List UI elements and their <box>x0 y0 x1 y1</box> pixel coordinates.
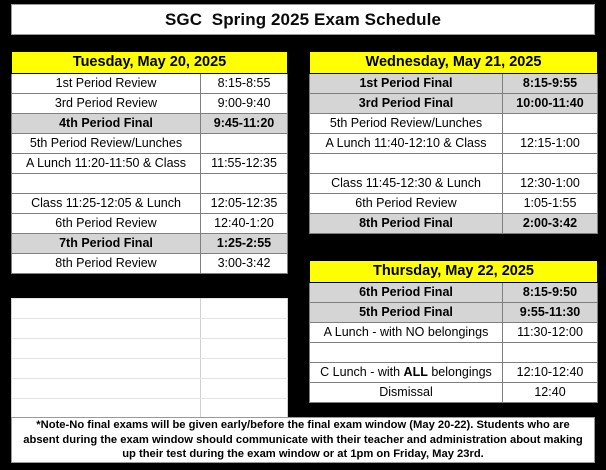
table-row: 5th Period Final9:55-11:30 <box>310 303 598 323</box>
exam-time-cell: 1:25-2:55 <box>201 234 288 254</box>
empty-cell <box>201 359 288 379</box>
exam-time-cell <box>201 174 288 194</box>
exam-label-cell: A Lunch 11:20-11:50 & Class <box>12 154 201 174</box>
exam-time-cell: 11:30-12:00 <box>503 323 598 343</box>
exam-label-cell: C Lunch - with ALL belongings <box>310 363 503 383</box>
exam-time-cell <box>503 114 598 134</box>
day-header-row-tuesday: Tuesday, May 20, 2025 <box>12 52 288 74</box>
empty-cell <box>201 339 288 359</box>
exam-label-cell: 8th Period Final <box>310 214 503 234</box>
exam-time-cell: 1:05-1:55 <box>503 194 598 214</box>
exam-label-cell: Class 11:45-12:30 & Lunch <box>310 174 503 194</box>
footer-note-text: *Note-No final exams will be given early… <box>20 418 586 462</box>
table-row: 1st Period Final8:15-9:55 <box>310 74 598 94</box>
empty-table-row <box>12 399 288 419</box>
exam-label-cell: Dismissal <box>310 383 503 403</box>
empty-cell <box>12 379 201 399</box>
exam-label-cell: 1st Period Final <box>310 74 503 94</box>
schedule-table-thursday: Thursday, May 22, 20256th Period Final8:… <box>309 260 598 403</box>
exam-time-cell: 3:00-3:42 <box>201 254 288 274</box>
exam-label-cell: 4th Period Final <box>12 114 201 134</box>
emphasis-word: ALL <box>404 365 428 379</box>
exam-time-cell: 9:45-11:20 <box>201 114 288 134</box>
empty-cell <box>201 319 288 339</box>
exam-label-cell: 6th Period Review <box>12 214 201 234</box>
exam-time-cell: 8:15-9:55 <box>503 74 598 94</box>
exam-label-cell: 5th Period Review/Lunches <box>310 114 503 134</box>
exam-time-cell: 11:55-12:35 <box>201 154 288 174</box>
exam-label-cell: Class 11:25-12:05 & Lunch <box>12 194 201 214</box>
exam-time-cell <box>503 343 598 363</box>
schedule-table-tuesday-blank-rows <box>11 298 288 419</box>
table-row: 8th Period Review3:00-3:42 <box>12 254 288 274</box>
table-row: 6th Period Review1:05-1:55 <box>310 194 598 214</box>
table-row: Dismissal12:40 <box>310 383 598 403</box>
table-row: A Lunch 11:40-12:10 & Class12:15-1:00 <box>310 134 598 154</box>
day-header-row-wednesday: Wednesday, May 21, 2025 <box>310 52 598 74</box>
table-row: 3rd Period Final10:00-11:40 <box>310 94 598 114</box>
day-header-wednesday: Wednesday, May 21, 2025 <box>310 52 598 74</box>
footer-note-box: *Note-No final exams will be given early… <box>11 417 595 463</box>
exam-label-cell: 5th Period Final <box>310 303 503 323</box>
exam-time-cell: 12:10-12:40 <box>503 363 598 383</box>
exam-time-cell <box>201 134 288 154</box>
table-row: 5th Period Review/Lunches <box>310 114 598 134</box>
exam-time-cell: 9:55-11:30 <box>503 303 598 323</box>
table-row <box>310 154 598 174</box>
table-row: 3rd Period Review9:00-9:40 <box>12 94 288 114</box>
exam-label-cell: 7th Period Final <box>12 234 201 254</box>
exam-time-cell: 12:05-12:35 <box>201 194 288 214</box>
empty-cell <box>12 339 201 359</box>
page-title: SGC Spring 2025 Exam Schedule <box>165 10 441 30</box>
exam-time-cell: 12:30-1:00 <box>503 174 598 194</box>
exam-time-cell: 8:15-9:50 <box>503 283 598 303</box>
empty-table-row <box>12 319 288 339</box>
exam-time-cell: 9:00-9:40 <box>201 94 288 114</box>
table-row: 6th Period Final8:15-9:50 <box>310 283 598 303</box>
table-row: Class 11:45-12:30 & Lunch12:30-1:00 <box>310 174 598 194</box>
empty-cell <box>201 399 288 419</box>
table-row: 7th Period Final1:25-2:55 <box>12 234 288 254</box>
table-row: Class 11:25-12:05 & Lunch12:05-12:35 <box>12 194 288 214</box>
day-header-row-thursday: Thursday, May 22, 2025 <box>310 261 598 283</box>
exam-label-cell: 6th Period Final <box>310 283 503 303</box>
exam-time-cell: 10:00-11:40 <box>503 94 598 114</box>
exam-time-cell: 12:40 <box>503 383 598 403</box>
table-row: 5th Period Review/Lunches <box>12 134 288 154</box>
empty-table-row <box>12 379 288 399</box>
exam-label-cell <box>310 343 503 363</box>
exam-label-cell: A Lunch - with NO belongings <box>310 323 503 343</box>
empty-table-row <box>12 299 288 319</box>
table-row <box>310 343 598 363</box>
empty-cell <box>12 359 201 379</box>
schedule-table-wednesday: Wednesday, May 21, 20251st Period Final8… <box>309 51 598 234</box>
exam-time-cell: 8:15-8:55 <box>201 74 288 94</box>
day-header-thursday: Thursday, May 22, 2025 <box>310 261 598 283</box>
table-row <box>12 174 288 194</box>
table-row: 1st Period Review8:15-8:55 <box>12 74 288 94</box>
exam-label-cell: 3rd Period Review <box>12 94 201 114</box>
exam-label-cell: 3rd Period Final <box>310 94 503 114</box>
empty-cell <box>12 299 201 319</box>
schedule-title-box: SGC Spring 2025 Exam Schedule <box>11 4 595 35</box>
empty-table-row <box>12 339 288 359</box>
empty-cell <box>12 399 201 419</box>
empty-cell <box>12 319 201 339</box>
exam-label-cell: 6th Period Review <box>310 194 503 214</box>
tuesday-body: Tuesday, May 20, 20251st Period Review8:… <box>12 52 288 274</box>
empty-cell <box>201 379 288 399</box>
table-row: A Lunch - with NO belongings11:30-12:00 <box>310 323 598 343</box>
wednesday-body: Wednesday, May 21, 20251st Period Final8… <box>310 52 598 234</box>
empty-cell <box>201 299 288 319</box>
exam-label-cell: 1st Period Review <box>12 74 201 94</box>
exam-time-cell: 2:00-3:42 <box>503 214 598 234</box>
exam-label-cell: 5th Period Review/Lunches <box>12 134 201 154</box>
table-row: 6th Period Review12:40-1:20 <box>12 214 288 234</box>
empty-table-row <box>12 359 288 379</box>
table-row: 4th Period Final9:45-11:20 <box>12 114 288 134</box>
exam-time-cell: 12:40-1:20 <box>201 214 288 234</box>
tuesday-blank-body <box>12 299 288 419</box>
exam-label-cell: 8th Period Review <box>12 254 201 274</box>
thursday-body: Thursday, May 22, 20256th Period Final8:… <box>310 261 598 403</box>
exam-time-cell <box>503 154 598 174</box>
table-row: A Lunch 11:20-11:50 & Class11:55-12:35 <box>12 154 288 174</box>
exam-label-cell <box>310 154 503 174</box>
table-row: 8th Period Final2:00-3:42 <box>310 214 598 234</box>
table-row: C Lunch - with ALL belongings12:10-12:40 <box>310 363 598 383</box>
day-header-tuesday: Tuesday, May 20, 2025 <box>12 52 288 74</box>
exam-label-cell <box>12 174 201 194</box>
schedule-table-tuesday: Tuesday, May 20, 20251st Period Review8:… <box>11 51 288 274</box>
exam-time-cell: 12:15-1:00 <box>503 134 598 154</box>
exam-label-cell: A Lunch 11:40-12:10 & Class <box>310 134 503 154</box>
